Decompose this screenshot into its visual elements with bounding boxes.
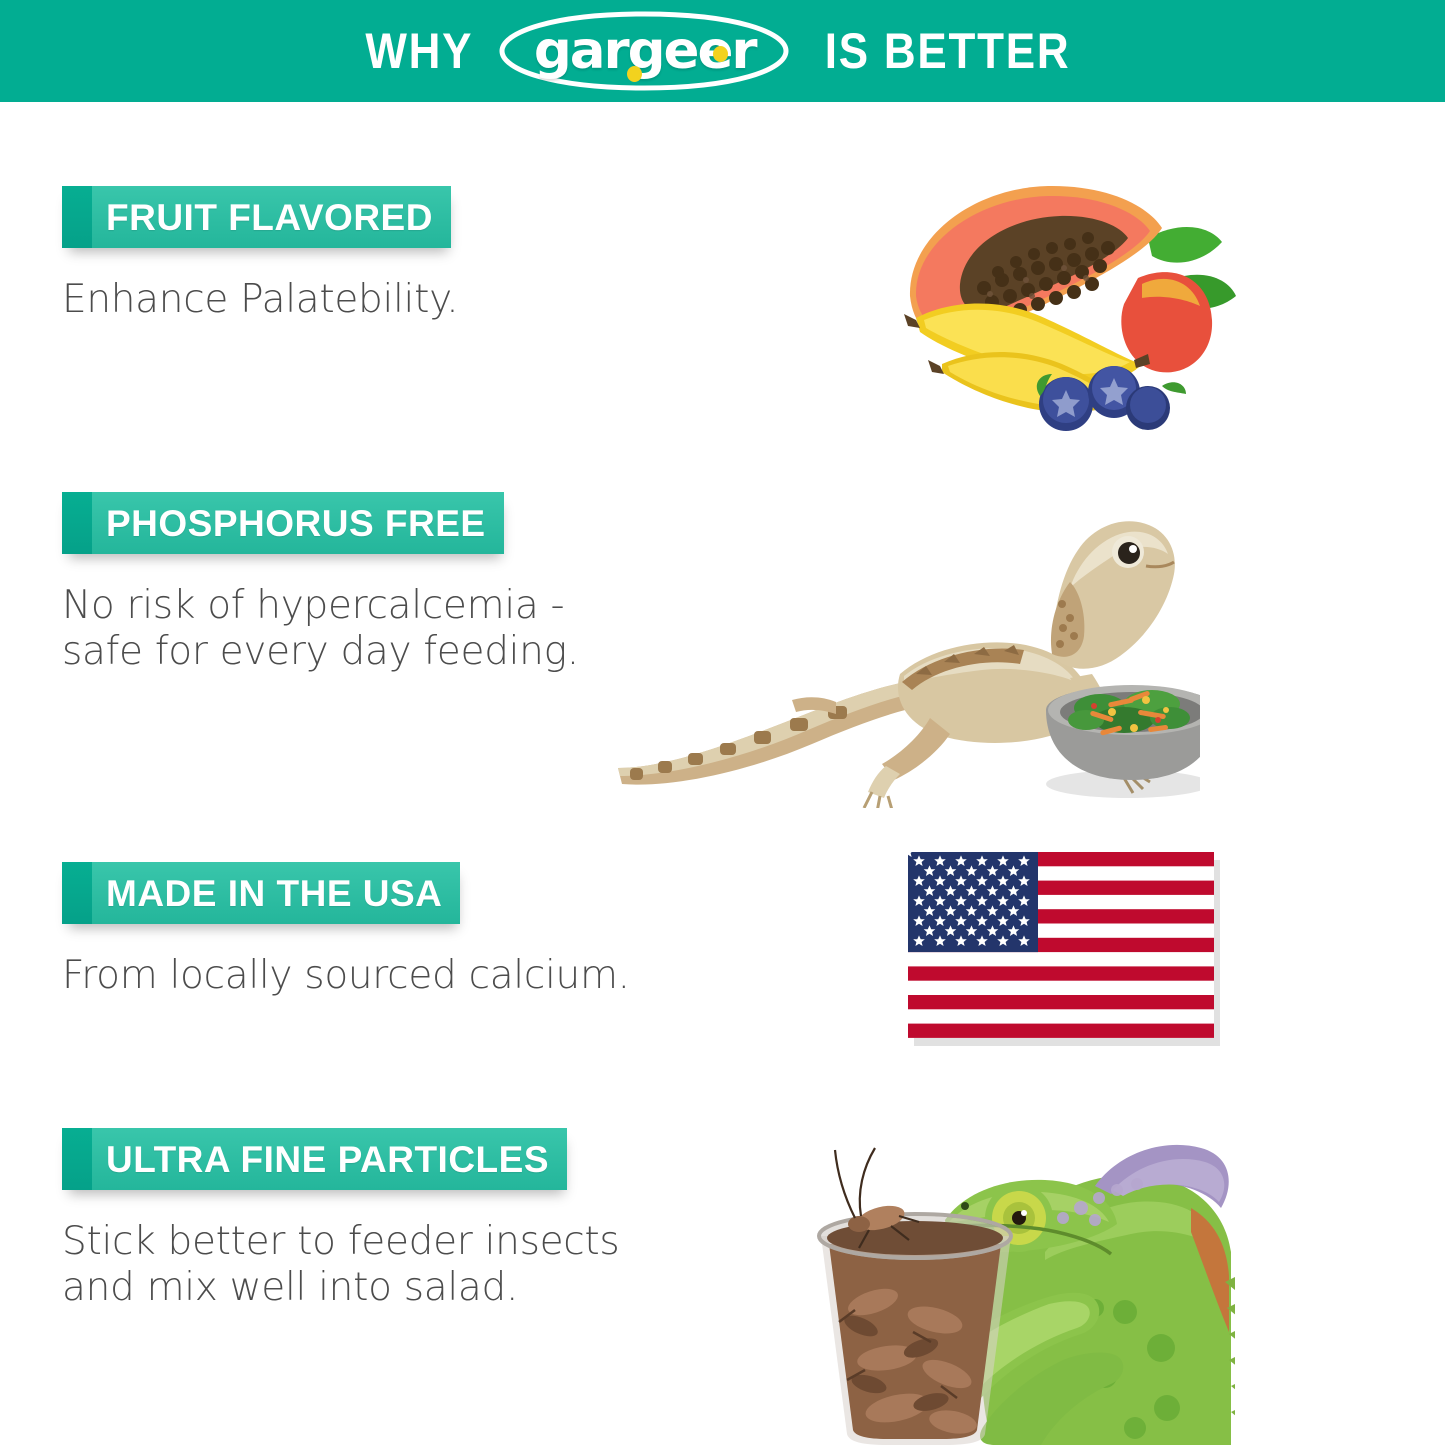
feature-block-ultra-fine-particles: ULTRA FINE PARTICLES Stick better to fee… [62,1128,619,1311]
feature-title-banner: ULTRA FINE PARTICLES [62,1128,567,1190]
page-header-banner: WHY gargeer IS BETTER [0,0,1445,102]
feature-block-made-in-the-usa: MADE IN THE USA From locally sourced cal… [62,862,630,999]
bearded-dragon-with-salad-bowl-image [600,468,1200,808]
banner-host: ULTRA FINE PARTICLES [62,1128,567,1195]
feature-title-label: PHOSPHORUS FREE [92,505,504,542]
header-why-label: WHY [365,26,473,76]
feature-title-banner: PHOSPHORUS FREE [62,492,504,554]
banner-host: FRUIT FLAVORED [62,186,451,253]
banner-host: PHOSPHORUS FREE [62,492,504,559]
header-content: WHY gargeer IS BETTER [358,10,1088,92]
flag-canton [908,852,1038,952]
salad-bowl [1046,685,1200,798]
fruit-assortment-image [880,168,1250,443]
feature-block-fruit-flavored: FRUIT FLAVORED Enhance Palatebility. [62,186,458,323]
feature-title-label: ULTRA FINE PARTICLES [92,1141,567,1178]
feature-description: Enhance Palatebility. [62,277,458,323]
feature-description: No risk of hypercalcemia - safe for ever… [62,583,579,675]
feature-block-phosphorus-free: PHOSPHORUS FREE No risk of hypercalcemia… [62,492,579,675]
feature-title-banner: FRUIT FLAVORED [62,186,451,248]
usa-flag-image [908,852,1226,1050]
chameleon-with-cricket-cup-image [795,1112,1235,1445]
gargeer-logo: gargeer [494,10,794,92]
feature-description: Stick better to feeder insects and mix w… [62,1219,619,1311]
banner-left-cap [62,862,92,924]
mango [1121,272,1212,372]
feature-description: From locally sourced calcium. [62,953,630,999]
banner-left-cap [62,186,92,248]
salad-contents [1068,690,1190,736]
banner-host: MADE IN THE USA [62,862,460,929]
feature-title-label: FRUIT FLAVORED [92,199,451,236]
banner-left-cap [62,1128,92,1190]
feature-title-label: MADE IN THE USA [92,875,460,912]
banner-left-cap [62,492,92,554]
header-better-label: IS BETTER [825,26,1071,76]
feature-title-banner: MADE IN THE USA [62,862,460,924]
